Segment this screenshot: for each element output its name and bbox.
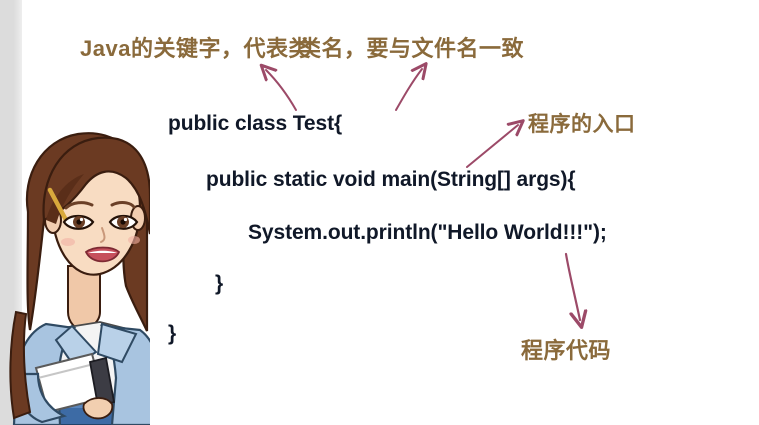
code-line-println: System.out.println("Hello World!!!"); <box>248 221 607 245</box>
eye-right <box>110 216 137 229</box>
arrow-to-classname <box>396 69 422 110</box>
arrow-to-keyword <box>266 70 296 110</box>
arrow-to-entry <box>467 125 518 167</box>
code-line-class-declaration: public class Test{ <box>168 112 342 136</box>
blush-right <box>128 236 140 244</box>
annotation-java-keyword: Java的关键字，代表类 <box>80 31 311 63</box>
cartoon-woman-holding-book <box>0 116 150 425</box>
code-line-main-method: public static void main(String[] args){ <box>206 168 575 192</box>
eye-left <box>64 216 93 229</box>
hand <box>83 398 112 418</box>
blush-left <box>61 238 75 246</box>
annotation-class-name: 类名，要与文件名一致 <box>299 31 524 63</box>
arrow-to-code <box>566 254 580 320</box>
annotation-program-code: 程序代码 <box>521 333 611 365</box>
code-line-close-class-brace: } <box>168 322 176 346</box>
slide-canvas: Java的关键字，代表类 类名，要与文件名一致 程序的入口 程序代码 publi… <box>0 0 759 425</box>
code-line-close-method-brace: } <box>215 272 223 296</box>
annotation-program-entry: 程序的入口 <box>528 108 636 138</box>
